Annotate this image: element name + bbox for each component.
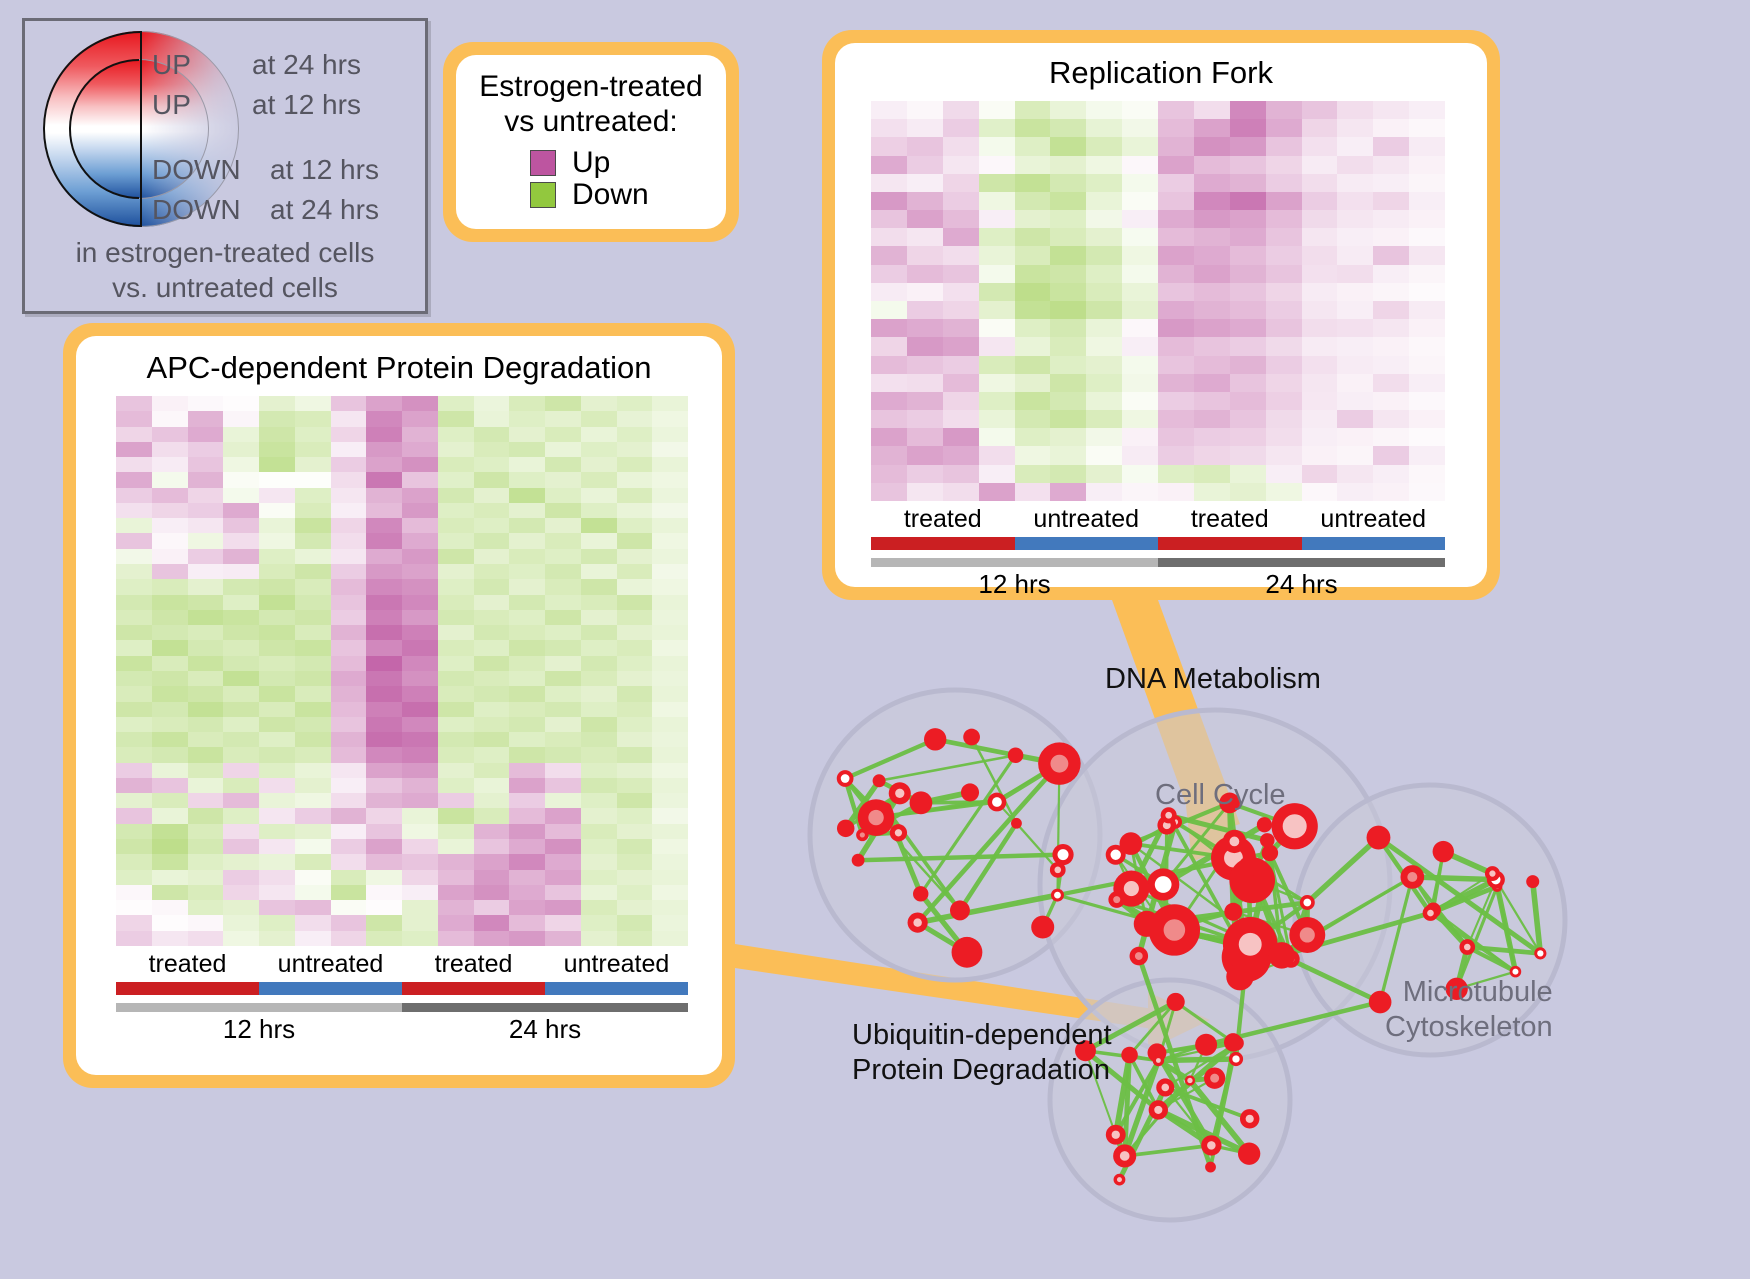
heat-cell (979, 174, 1015, 192)
replication-fork-title: Replication Fork (835, 55, 1487, 91)
swatch-down-icon (530, 182, 556, 208)
heat-cell (331, 579, 367, 594)
heat-cell (474, 686, 510, 701)
heat-cell (295, 732, 331, 747)
heat-cell (545, 549, 581, 564)
heat-cell (1015, 228, 1051, 246)
heat-cell (402, 533, 438, 548)
heat-cell (259, 656, 295, 671)
heat-cell (581, 671, 617, 686)
heat-cell (402, 763, 438, 778)
heat-cell (871, 265, 907, 283)
heat-cell (871, 374, 907, 392)
heat-cell (1194, 410, 1230, 428)
heat-cell (1050, 192, 1086, 210)
heat-cell (438, 457, 474, 472)
heat-cell (331, 411, 367, 426)
heat-cell (545, 747, 581, 762)
heat-cell (188, 778, 224, 793)
heat-cell (474, 427, 510, 442)
heat-cell (1015, 356, 1051, 374)
heat-cell (871, 446, 907, 464)
heat-cell (617, 640, 653, 655)
heat-cell (545, 915, 581, 930)
heat-cell (1266, 337, 1302, 355)
heat-cell (223, 472, 259, 487)
heat-cell (1050, 246, 1086, 264)
heat-cell (617, 870, 653, 885)
heat-cell (545, 839, 581, 854)
heat-cell (1086, 137, 1122, 155)
heat-cell (581, 793, 617, 808)
heat-cell (509, 411, 545, 426)
heat-cell (979, 101, 1015, 119)
heat-cell (1409, 174, 1445, 192)
heat-cell (1050, 465, 1086, 483)
heat-cell (331, 824, 367, 839)
heat-cell (581, 717, 617, 732)
heat-cell (402, 717, 438, 732)
wheel-row-1-state: UP (152, 89, 191, 121)
heat-cell (1122, 192, 1158, 210)
heat-cell (652, 396, 688, 411)
heat-cell (1194, 392, 1230, 410)
heat-cell (1409, 392, 1445, 410)
heat-cell (509, 488, 545, 503)
heat-cell (871, 246, 907, 264)
heat-cell (438, 640, 474, 655)
heat-cell (188, 854, 224, 869)
legend-item-down: Down (530, 180, 726, 210)
heat-cell (152, 411, 188, 426)
heat-cell (1158, 265, 1194, 283)
wheel-row-2-state: DOWN (152, 154, 241, 186)
heat-cell (366, 793, 402, 808)
heat-cell (438, 503, 474, 518)
heat-cell (223, 854, 259, 869)
heat-cell (1050, 392, 1086, 410)
heat-cell (474, 640, 510, 655)
heat-cell (402, 931, 438, 946)
heat-cell (581, 686, 617, 701)
heat-cell (1373, 392, 1409, 410)
replication-fork-panel: Replication Fork treated untreated treat… (822, 30, 1500, 600)
heat-cell (331, 549, 367, 564)
heat-cell (1302, 319, 1338, 337)
heat-cell (1194, 356, 1230, 374)
heat-cell (402, 702, 438, 717)
heat-cell (979, 156, 1015, 174)
heat-cell (223, 747, 259, 762)
apc-bar-treated-12 (116, 982, 259, 995)
heat-cell (152, 427, 188, 442)
heat-cell (1050, 319, 1086, 337)
heat-cell (116, 564, 152, 579)
heat-cell (402, 885, 438, 900)
heat-cell (223, 839, 259, 854)
heat-cell (1302, 192, 1338, 210)
heat-cell (581, 625, 617, 640)
heat-cell (1337, 465, 1373, 483)
heat-cell (331, 793, 367, 808)
heat-cell (402, 595, 438, 610)
heat-cell (545, 472, 581, 487)
heat-cell (581, 656, 617, 671)
heat-cell (1122, 174, 1158, 192)
heat-cell (366, 778, 402, 793)
heat-cell (1266, 319, 1302, 337)
heat-cell (907, 374, 943, 392)
heat-cell (474, 808, 510, 823)
heat-cell (366, 931, 402, 946)
heat-cell (366, 610, 402, 625)
heat-cell (943, 192, 979, 210)
heat-cell (1158, 210, 1194, 228)
apc-time-label-12: 12 hrs (116, 1014, 402, 1045)
functional-network-diagram: DNA Metabolism Cell Cycle Microtubule Cy… (790, 620, 1750, 1279)
heat-cell (366, 503, 402, 518)
heat-cell (907, 246, 943, 264)
heat-cell (438, 411, 474, 426)
heat-cell (652, 656, 688, 671)
heat-cell (259, 457, 295, 472)
heat-cell (907, 137, 943, 155)
heat-cell (1337, 356, 1373, 374)
heat-cell (1266, 465, 1302, 483)
heat-cell (152, 885, 188, 900)
heat-cell (331, 656, 367, 671)
heat-cell (1337, 265, 1373, 283)
heat-cell (1373, 374, 1409, 392)
heat-cell (438, 717, 474, 732)
network-node (1130, 947, 1149, 966)
heat-cell (1015, 319, 1051, 337)
heat-cell (652, 411, 688, 426)
heat-cell (1373, 137, 1409, 155)
heat-cell (509, 717, 545, 732)
heat-cell (1230, 319, 1266, 337)
heat-cell (474, 763, 510, 778)
heat-cell (617, 411, 653, 426)
heat-cell (116, 717, 152, 732)
heat-cell (259, 533, 295, 548)
heat-cell (979, 192, 1015, 210)
replication-fork-axis: treated untreated treated untreated 12 h… (871, 505, 1445, 600)
heat-cell (188, 518, 224, 533)
heat-cell (259, 747, 295, 762)
heat-cell (188, 793, 224, 808)
updown-legend-items: Up Down (456, 148, 726, 210)
heat-cell (259, 442, 295, 457)
heat-cell (617, 518, 653, 533)
heat-cell (1409, 228, 1445, 246)
heat-cell (1337, 246, 1373, 264)
heat-cell (295, 610, 331, 625)
heat-cell (545, 870, 581, 885)
heat-cell (581, 610, 617, 625)
network-node (889, 782, 911, 804)
heat-cell (438, 671, 474, 686)
heat-cell (1373, 356, 1409, 374)
heat-cell (979, 301, 1015, 319)
heat-cell (402, 457, 438, 472)
heat-cell (402, 610, 438, 625)
heat-cell (1337, 174, 1373, 192)
heat-cell (366, 472, 402, 487)
heat-cell (1050, 356, 1086, 374)
network-node (1260, 833, 1275, 848)
heat-cell (152, 717, 188, 732)
heat-cell (1373, 228, 1409, 246)
heat-cell (474, 900, 510, 915)
network-node (1240, 1109, 1259, 1128)
heat-cell (1050, 283, 1086, 301)
heat-cell (581, 411, 617, 426)
heat-cell (943, 101, 979, 119)
heat-cell (474, 671, 510, 686)
heat-cell (979, 228, 1015, 246)
heat-cell (259, 686, 295, 701)
heat-cell (152, 732, 188, 747)
heat-cell (979, 483, 1015, 501)
network-node (1204, 1067, 1225, 1088)
heat-cell (259, 732, 295, 747)
heat-cell (1266, 283, 1302, 301)
heat-cell (116, 457, 152, 472)
heat-cell (509, 549, 545, 564)
heat-cell (259, 396, 295, 411)
heat-cell (295, 854, 331, 869)
heat-cell (652, 671, 688, 686)
wheel-row-0-state: UP (152, 49, 191, 81)
network-node (988, 793, 1007, 812)
heat-cell (188, 686, 224, 701)
heat-cell (188, 457, 224, 472)
heat-cell (474, 564, 510, 579)
heat-cell (116, 778, 152, 793)
heat-cell (1015, 246, 1051, 264)
heat-cell (871, 101, 907, 119)
heat-cell (1266, 301, 1302, 319)
heat-cell (295, 564, 331, 579)
heat-cell (474, 885, 510, 900)
rf-timebar-24 (1158, 558, 1445, 567)
heat-cell (617, 732, 653, 747)
heat-cell (652, 824, 688, 839)
rf-group-label-3: untreated (1302, 505, 1446, 534)
rf-time-bars (871, 553, 1445, 567)
heat-cell (581, 824, 617, 839)
network-node (1008, 747, 1024, 763)
heat-cell (1266, 210, 1302, 228)
heat-cell (943, 119, 979, 137)
wheel-legend-footer: in estrogen-treated cells vs. untreated … (25, 235, 425, 306)
heat-cell (617, 839, 653, 854)
heat-cell (1015, 156, 1051, 174)
heat-cell (545, 610, 581, 625)
heat-cell (188, 900, 224, 915)
heat-cell (188, 732, 224, 747)
heat-cell (1337, 428, 1373, 446)
heat-cell (438, 763, 474, 778)
heat-cell (1158, 483, 1194, 501)
updown-legend-title: Estrogen-treated vs untreated: (456, 69, 726, 140)
heat-cell (474, 778, 510, 793)
network-node (890, 824, 907, 841)
heat-cell (366, 824, 402, 839)
heat-cell (1194, 428, 1230, 446)
network-node (1367, 826, 1391, 850)
heat-cell (1373, 337, 1409, 355)
heat-cell (1158, 374, 1194, 392)
apc-bar-treated-24 (402, 982, 545, 995)
network-node (1224, 903, 1242, 921)
heat-cell (1373, 210, 1409, 228)
heat-cell (1266, 137, 1302, 155)
heat-cell (402, 640, 438, 655)
heat-cell (366, 396, 402, 411)
heat-cell (581, 442, 617, 457)
heat-cell (1337, 119, 1373, 137)
heat-cell (295, 656, 331, 671)
heat-cell (545, 671, 581, 686)
heat-cell (509, 427, 545, 442)
heat-cell (1266, 246, 1302, 264)
heat-cell (331, 518, 367, 533)
heat-cell (617, 488, 653, 503)
heat-cell (366, 717, 402, 732)
heat-cell (474, 472, 510, 487)
heat-cell (581, 763, 617, 778)
heat-cell (1266, 483, 1302, 501)
heat-cell (188, 533, 224, 548)
heat-cell (652, 610, 688, 625)
heat-cell (1122, 210, 1158, 228)
heat-cell (474, 717, 510, 732)
heat-cell (1050, 137, 1086, 155)
heat-cell (438, 915, 474, 930)
heat-cell (581, 640, 617, 655)
apc-degradation-inner: APC-dependent Protein Degradation treate… (76, 336, 722, 1075)
apc-group-labels: treated untreated treated untreated (116, 950, 688, 979)
heat-cell (295, 900, 331, 915)
heat-cell (152, 472, 188, 487)
heat-cell (907, 228, 943, 246)
heat-cell (509, 885, 545, 900)
heat-cell (943, 174, 979, 192)
heat-cell (617, 671, 653, 686)
network-node (1238, 1142, 1260, 1164)
heat-cell (1337, 483, 1373, 501)
heat-cell (116, 839, 152, 854)
heat-cell (1373, 446, 1409, 464)
heat-cell (474, 488, 510, 503)
heat-cell (509, 931, 545, 946)
heat-cell (331, 808, 367, 823)
heat-cell (474, 854, 510, 869)
heat-cell (1122, 301, 1158, 319)
heat-cell (1122, 265, 1158, 283)
heat-cell (116, 427, 152, 442)
heat-cell (1302, 337, 1338, 355)
heat-cell (1158, 301, 1194, 319)
heat-cell (545, 854, 581, 869)
network-node (1289, 917, 1325, 953)
heat-cell (1230, 210, 1266, 228)
heat-cell (295, 518, 331, 533)
heat-cell (1373, 465, 1409, 483)
heat-cell (509, 808, 545, 823)
heat-cell (295, 702, 331, 717)
heat-cell (1230, 265, 1266, 283)
heat-cell (331, 763, 367, 778)
heat-cell (1158, 228, 1194, 246)
heat-cell (366, 579, 402, 594)
heat-cell (581, 472, 617, 487)
heat-cell (152, 915, 188, 930)
heat-cell (1409, 246, 1445, 264)
heat-cell (295, 747, 331, 762)
heat-cell (871, 410, 907, 428)
heat-cell (1086, 392, 1122, 410)
heat-cell (116, 595, 152, 610)
heat-cell (1302, 228, 1338, 246)
network-node (1038, 742, 1081, 785)
heat-cell (259, 915, 295, 930)
network-node (873, 774, 886, 787)
heat-cell (331, 488, 367, 503)
heat-cell (1409, 137, 1445, 155)
rf-group-labels: treated untreated treated untreated (871, 505, 1445, 534)
heat-cell (545, 579, 581, 594)
heat-cell (907, 301, 943, 319)
heat-cell (402, 564, 438, 579)
heat-cell (223, 579, 259, 594)
heat-cell (1337, 192, 1373, 210)
heat-cell (617, 824, 653, 839)
heat-cell (1337, 319, 1373, 337)
heat-cell (509, 747, 545, 762)
heat-cell (871, 228, 907, 246)
heat-cell (1302, 410, 1338, 428)
heat-cell (1122, 356, 1158, 374)
heat-cell (188, 808, 224, 823)
heat-cell (1230, 192, 1266, 210)
heat-cell (545, 824, 581, 839)
heat-cell (545, 778, 581, 793)
heat-cell (402, 747, 438, 762)
network-node (1268, 942, 1295, 969)
heat-cell (652, 472, 688, 487)
heat-cell (545, 931, 581, 946)
heat-cell (1122, 246, 1158, 264)
network-node (1205, 1162, 1216, 1173)
heat-cell (152, 824, 188, 839)
heat-cell (943, 410, 979, 428)
heat-cell (907, 265, 943, 283)
heat-cell (152, 549, 188, 564)
heat-cell (402, 671, 438, 686)
heat-cell (295, 411, 331, 426)
network-node (1224, 1033, 1242, 1051)
heat-cell (545, 533, 581, 548)
heat-cell (116, 763, 152, 778)
legend-label-down: Down (572, 180, 649, 210)
heat-cell (1302, 301, 1338, 319)
heat-cell (1194, 374, 1230, 392)
heat-cell (1158, 174, 1194, 192)
heat-cell (1373, 246, 1409, 264)
